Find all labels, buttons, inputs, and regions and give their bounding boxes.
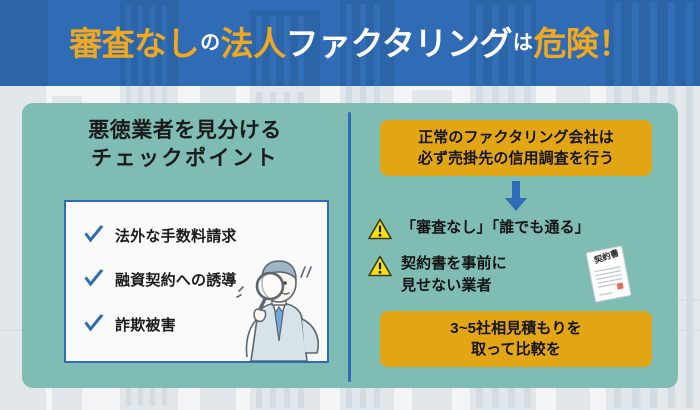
arrow-down-icon [505,181,527,211]
checklist-label: 法外な手数料請求 [115,225,237,246]
warning-label-line1: 契約書を事前に [401,255,507,272]
businessman-with-magnifying-glass-icon [227,253,329,363]
title-segment-6: 危険！ [533,27,631,60]
check-icon [82,267,106,291]
checklist-label: 詐欺被害 [115,314,176,335]
list-item: 法外な手数料請求 [82,223,237,247]
list-item: 契約書を事前に 見せない業者 [368,253,507,297]
warning-triangle-icon [368,255,392,277]
get-quotes-callout-box: 3~5社相見積もりを 取って比較を [380,311,652,367]
page-title: 審査なし の 法人 ファクタリング は 危険！ [0,0,700,86]
normal-company-line2: 必ず売掛先の信用調査を行う [418,148,614,169]
checklist-card: 法外な手数料請求 融資契約への誘導 詐欺被害 [64,200,329,363]
title-segment-3: 法人 [221,27,286,60]
title-segment-1: 審査なし [69,27,199,60]
list-item: 詐欺被害 [82,312,176,336]
left-heading-line1: 悪徳業者を見分ける [22,117,348,145]
check-icon [82,312,106,336]
warning-label-multiline: 契約書を事前に 見せない業者 [401,253,507,297]
left-heading-line2: チェックポイント [22,145,348,173]
right-column: 正常のファクタリング会社は 必ず売掛先の信用調査を行う 「審査なし」「誰でも通る… [352,103,678,388]
left-column-heading: 悪徳業者を見分ける チェックポイント [22,117,348,172]
normal-company-callout-box: 正常のファクタリング会社は 必ず売掛先の信用調査を行う [380,120,652,176]
title-segment-4: ファクタリング [286,27,512,60]
get-quotes-line1: 3~5社相見積もりを [450,318,581,339]
normal-company-line1: 正常のファクタリング会社は [418,127,614,148]
check-icon [82,223,106,247]
contract-document-icon: 契約書 [577,245,641,307]
get-quotes-line2: 取って比較を [471,339,561,360]
list-item: 融資契約への誘導 [82,267,237,291]
list-item: 「審査なし」「誰でも通る」 [368,216,590,240]
warning-label: 「審査なし」「誰でも通る」 [401,217,590,239]
title-segment-2: の [199,33,221,53]
left-column: 悪徳業者を見分ける チェックポイント 法外な手数料請求 融資契約への誘導 [22,103,348,388]
column-divider [348,112,351,382]
infographic-root: 審査なし の 法人 ファクタリング は 危険！ 悪徳業者を見分ける チェックポイ… [0,0,700,410]
checklist-label: 融資契約への誘導 [115,269,237,290]
header-band: 審査なし の 法人 ファクタリング は 危険！ [0,0,700,86]
warning-label-line2: 見せない業者 [401,277,492,294]
warning-triangle-icon [368,218,392,240]
title-segment-5: は [512,33,534,53]
